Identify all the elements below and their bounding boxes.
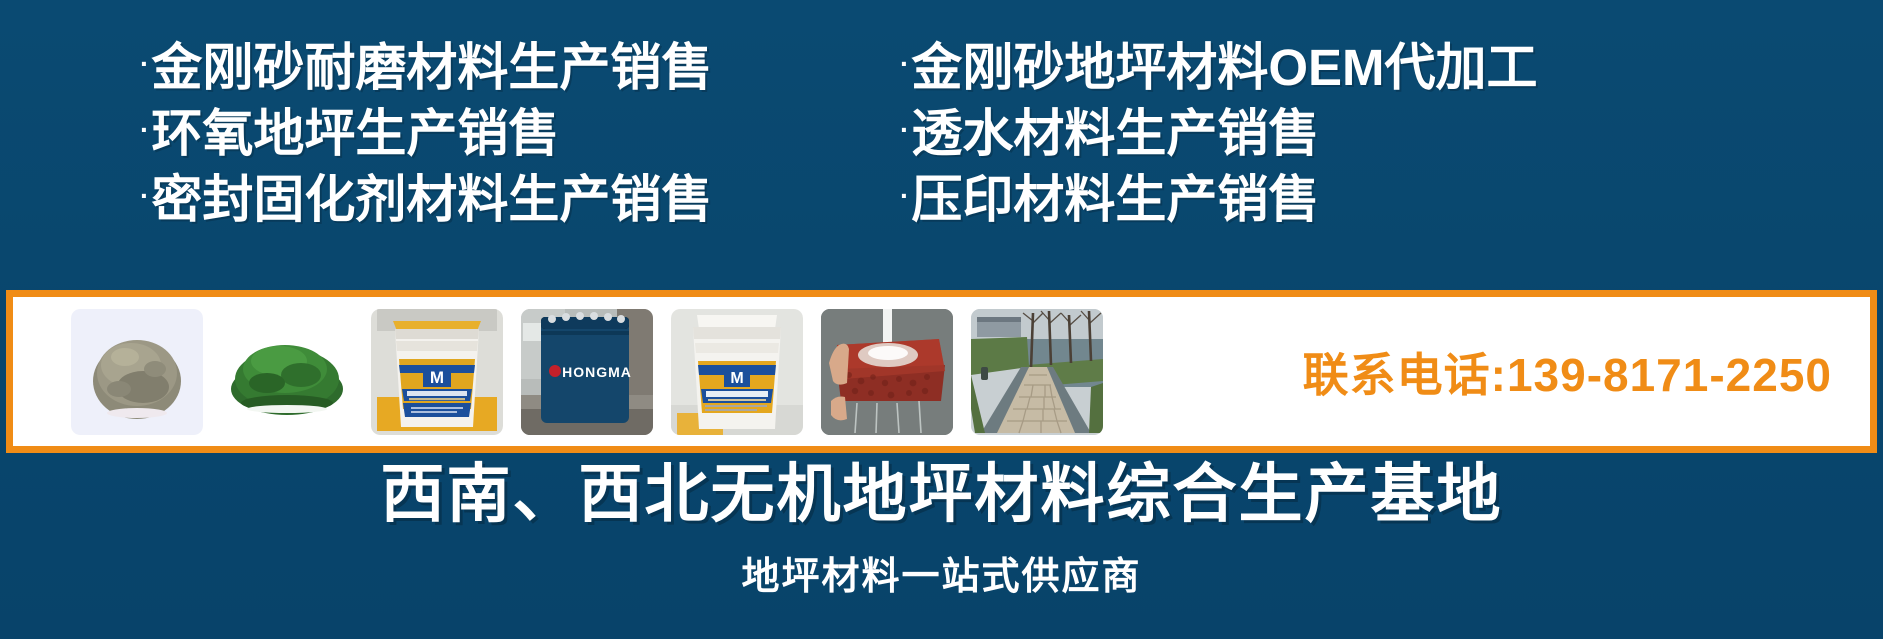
- bullet-item-permeable-material: · 透水材料生产销售: [900, 100, 1883, 166]
- svg-text:HONGMA: HONGMA: [562, 364, 632, 380]
- services-bullet-lists: · 金刚砂耐磨材料生产销售 · 环氧地坪生产销售 · 密封固化剂材料生产销售 ·…: [0, 34, 1883, 270]
- permeable-concrete-image: [821, 309, 953, 435]
- hongma-drum-photo: HONGMA: [521, 309, 653, 435]
- bullet-label: 金刚砂地坪材料OEM代加工: [911, 42, 1537, 93]
- bullet-dot-icon: ·: [140, 50, 149, 78]
- stamped-walkway-image: [971, 309, 1103, 435]
- bullet-item-stamped-material: · 压印材料生产销售: [900, 166, 1883, 232]
- svg-text:M: M: [430, 368, 444, 387]
- bullet-column-right: · 金刚砂地坪材料OEM代加工 · 透水材料生产销售 · 压印材料生产销售: [880, 34, 1883, 270]
- bullet-dot-icon: ·: [140, 116, 149, 144]
- permeable-concrete-photo: [821, 309, 953, 435]
- bullet-item-abrasive-wear-material: · 金刚砂耐磨材料生产销售: [140, 34, 880, 100]
- product-strip-inner: M: [13, 297, 1870, 446]
- epoxy-pail-image: M: [671, 309, 803, 435]
- product-thumbnail-list: M: [13, 309, 1103, 435]
- main-headline: 西南、西北无机地坪材料综合生产基地: [0, 462, 1883, 526]
- bullet-item-epoxy-floor: · 环氧地坪生产销售: [140, 100, 880, 166]
- green-powder-image: [221, 309, 353, 435]
- bullet-column-left: · 金刚砂耐磨材料生产销售 · 环氧地坪生产销售 · 密封固化剂材料生产销售: [0, 34, 880, 270]
- bullet-label: 金刚砂耐磨材料生产销售: [151, 42, 712, 93]
- stamped-walkway-photo: [971, 309, 1103, 435]
- sealer-pail-image: M: [371, 309, 503, 435]
- bullet-dot-icon: ·: [140, 182, 149, 210]
- bullet-label: 压印材料生产销售: [911, 174, 1319, 225]
- product-strip: M: [6, 290, 1877, 453]
- bullet-item-oem-processing: · 金刚砂地坪材料OEM代加工: [900, 34, 1883, 100]
- grey-powder-image: [71, 309, 203, 435]
- bullet-dot-icon: ·: [900, 50, 909, 78]
- svg-text:M: M: [730, 370, 743, 387]
- grey-powder-photo: [71, 309, 203, 435]
- bullet-label: 密封固化剂材料生产销售: [151, 174, 712, 225]
- bullet-dot-icon: ·: [900, 182, 909, 210]
- bullet-item-seal-curing-agent: · 密封固化剂材料生产销售: [140, 166, 880, 232]
- sealer-pail-photo: M: [371, 309, 503, 435]
- bullet-label: 环氧地坪生产销售: [151, 108, 559, 159]
- green-powder-photo: [221, 309, 353, 435]
- hongma-drum-image: HONGMA: [521, 309, 653, 435]
- bullet-label: 透水材料生产销售: [911, 108, 1319, 159]
- bullet-dot-icon: ·: [900, 116, 909, 144]
- contact-phone[interactable]: 联系电话:139-8171-2250: [1303, 339, 1832, 405]
- promo-banner: · 金刚砂耐磨材料生产销售 · 环氧地坪生产销售 · 密封固化剂材料生产销售 ·…: [0, 0, 1883, 639]
- epoxy-pail-photo: M: [671, 309, 803, 435]
- sub-headline: 地坪材料一站式供应商: [0, 558, 1883, 596]
